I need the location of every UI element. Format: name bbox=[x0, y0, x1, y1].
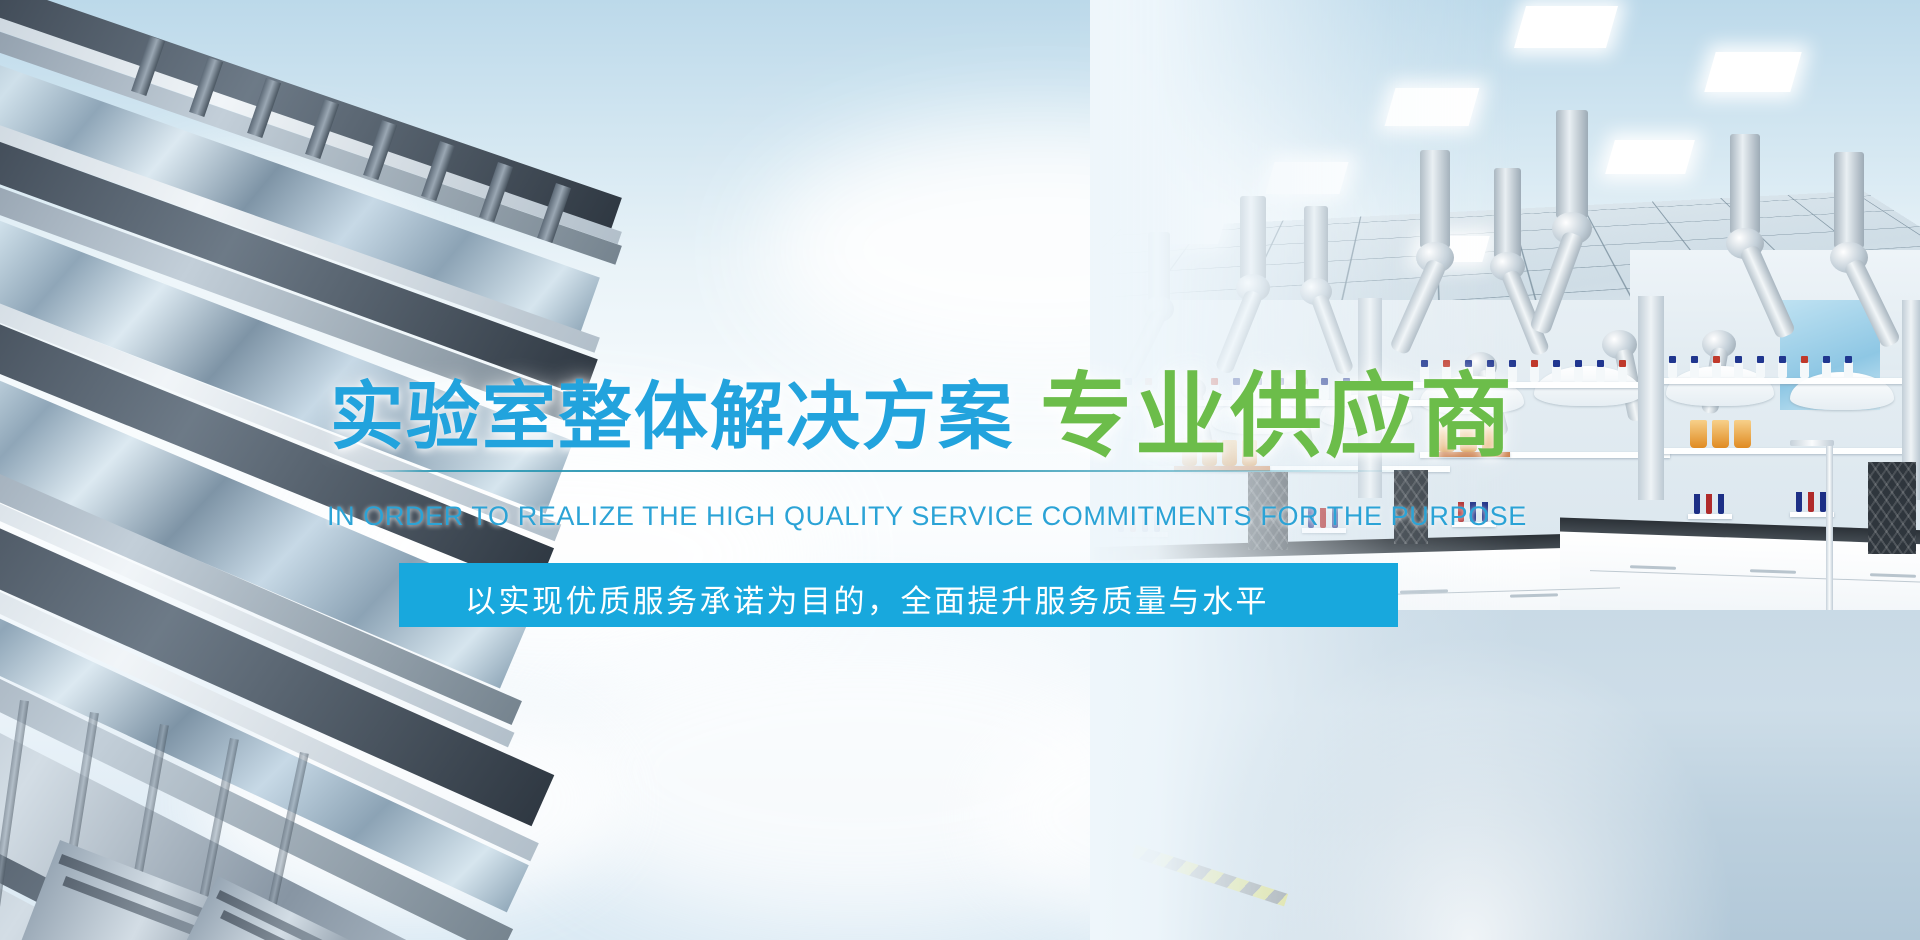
subtitle-english: IN ORDER TO REALIZE THE HIGH QUALITY SER… bbox=[327, 501, 1527, 532]
hero-banner: 实验室整体解决方案专业供应商 IN ORDER TO REALIZE THE H… bbox=[0, 0, 1920, 940]
callout-text: 以实现优质服务承诺为目的，全面提升服务质量与水平 bbox=[465, 576, 1269, 621]
headline-divider bbox=[366, 470, 1416, 472]
headline-primary: 实验室整体解决方案 bbox=[330, 375, 1014, 458]
banner-text-block: 实验室整体解决方案专业供应商 IN ORDER TO REALIZE THE H… bbox=[0, 0, 1920, 940]
headline: 实验室整体解决方案专业供应商 bbox=[330, 371, 1515, 463]
headline-accent: 专业供应商 bbox=[1040, 366, 1515, 468]
callout-bar: 以实现优质服务承诺为目的，全面提升服务质量与水平 bbox=[399, 563, 1398, 627]
